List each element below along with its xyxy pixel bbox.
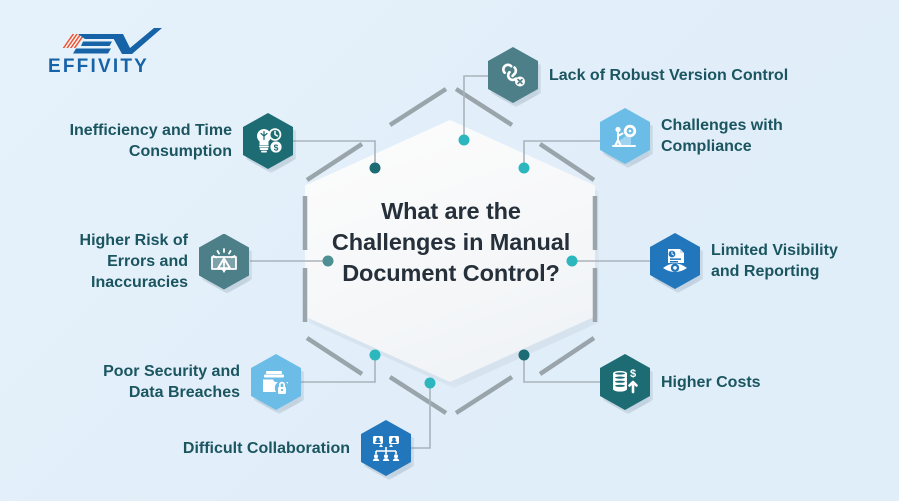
center-title: What are the Challenges in Manual Docume… — [330, 196, 572, 289]
node-label: Higher Risk of Errors and Inaccuracies — [62, 230, 188, 293]
hex-wrap: $ — [243, 113, 293, 169]
node-label: Lack of Robust Version Control — [549, 65, 788, 86]
node-label: Poor Security and Data Breaches — [80, 361, 240, 403]
node-lack-of-robust-version-control[interactable]: Lack of Robust Version Control — [488, 47, 788, 103]
node-label: Challenges with Compliance — [661, 115, 783, 157]
hex-wrap — [361, 420, 411, 476]
hex-wrap — [199, 234, 249, 290]
svg-text:$: $ — [630, 368, 636, 380]
node-difficult-collaboration[interactable]: Difficult Collaboration — [155, 420, 411, 476]
node-higher-risk-of-errors-and-inaccuracies[interactable]: Higher Risk of Errors and Inaccuracies — [62, 230, 249, 293]
node-label: Higher Costs — [661, 372, 761, 393]
hex-wrap — [488, 47, 538, 103]
hex-wrap — [251, 354, 301, 410]
node-poor-security-and-data-breaches[interactable]: Poor Security and Data Breaches — [80, 354, 301, 410]
infographic-canvas: EFFIVITY — [0, 0, 899, 501]
node-inefficiency-and-time-consumption[interactable]: Inefficiency and Time Consumption $ — [46, 113, 293, 169]
hex-wrap: $ — [600, 354, 650, 410]
logo-wordmark: EFFIVITY — [48, 56, 149, 78]
node-limited-visibility-and-reporting[interactable]: Limited Visibility and Reporting — [650, 233, 838, 289]
node-label: Difficult Collaboration — [155, 438, 350, 459]
hex-wrap — [600, 108, 650, 164]
hex-wrap — [650, 233, 700, 289]
node-higher-costs[interactable]: $ Higher Costs — [600, 354, 761, 410]
node-label: Inefficiency and Time Consumption — [46, 120, 232, 162]
node-label: Limited Visibility and Reporting — [711, 240, 838, 282]
ev-logo-mark — [56, 26, 172, 58]
node-challenges-with-compliance[interactable]: Challenges with Compliance — [600, 108, 783, 164]
svg-text:$: $ — [274, 143, 279, 153]
effivity-logo: EFFIVITY — [48, 26, 178, 78]
